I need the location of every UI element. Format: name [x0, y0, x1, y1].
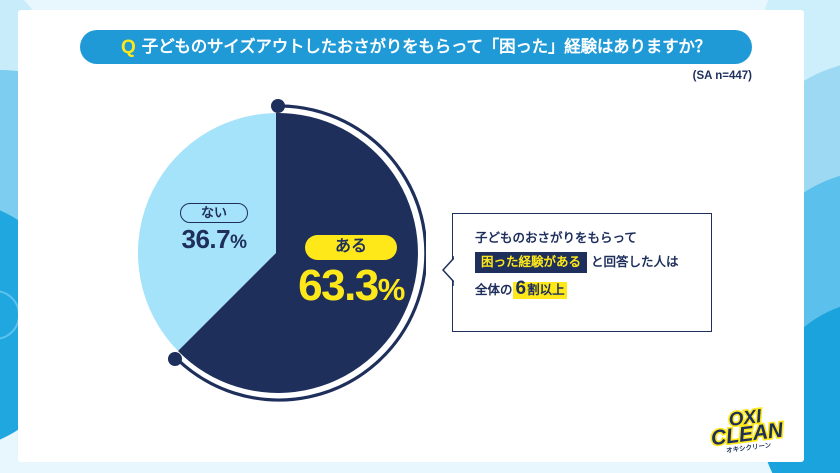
summary-callout: 子どものおさがりをもらって 困った経験があると回答した人は 全体の6割以上 [452, 213, 712, 332]
pie-value-aru-percent: % [378, 272, 404, 307]
callout-line-3-highlight: 6割以上 [513, 282, 567, 299]
pie-arc-start-dot [271, 99, 285, 113]
pie-value-nai: 36.7% [146, 225, 282, 254]
pie-value-nai-percent: % [230, 232, 246, 253]
question-q-icon: Q [121, 38, 136, 57]
callout-line-3-suffix: 割以上 [527, 283, 565, 297]
pie-chart: ない 36.7% ある 63.3% [126, 98, 426, 403]
callout-highlight-chip: 困った経験がある [475, 252, 587, 273]
pie-value-aru: 63.3% [266, 262, 436, 310]
pie-value-nai-number: 36.7 [181, 224, 230, 254]
summary-callout-text: 子どものおさがりをもらって 困った経験があると回答した人は 全体の6割以上 [453, 214, 711, 298]
sample-size-note: (SA n=447) [693, 70, 752, 82]
callout-line-2-rest: と回答した人は [591, 255, 679, 269]
callout-pointer-notch [442, 256, 454, 286]
question-title-text: 子どものサイズアウトしたおさがりをもらって「困った」経験はありますか？ [142, 39, 711, 56]
pie-label-aru-pill: ある [305, 235, 397, 260]
pie-arc-end-dot [168, 352, 182, 366]
question-title-bar: Q 子どものサイズアウトしたおさがりをもらって「困った」経験はありますか？ [80, 30, 752, 64]
callout-big-number: 6 [515, 278, 528, 299]
infographic-slide: Q 子どものサイズアウトしたおさがりをもらって「困った」経験はありますか？ (S… [0, 0, 840, 473]
content-card: Q 子どものサイズアウトしたおさがりをもらって「困った」経験はありますか？ (S… [18, 10, 804, 462]
pie-label-aru: ある 63.3% [266, 235, 436, 310]
callout-line-3-prefix: 全体の [475, 283, 513, 297]
pie-label-nai: ない 36.7% [146, 203, 282, 254]
pie-value-aru-number: 63.3 [298, 261, 378, 310]
oxiclean-logo: OXI CLEAN オキシクリーン [700, 400, 792, 456]
callout-line-2: 困った経験があると回答した人は [475, 256, 711, 269]
callout-line-1: 子どものおさがりをもらって [475, 232, 711, 245]
pie-label-nai-pill: ない [180, 203, 248, 223]
callout-line-3: 全体の6割以上 [475, 279, 711, 298]
